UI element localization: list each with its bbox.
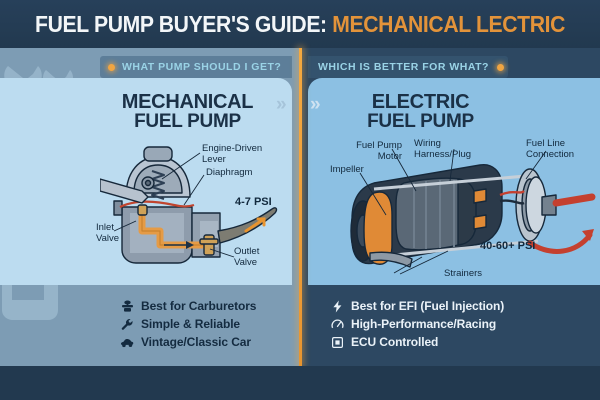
gauge-icon xyxy=(330,317,344,331)
list-item: Best for EFI (Fuel Injection) xyxy=(330,297,504,315)
right-heading-line2: FUEL PUMP xyxy=(333,112,508,132)
bullet-dot-icon xyxy=(108,64,115,71)
list-item: High-Performance/Racing xyxy=(330,315,504,333)
list-item: Best for Carburetors xyxy=(120,297,256,315)
subheader-right: WHICH IS BETTER FOR WHAT? xyxy=(308,56,508,78)
carburetor-icon xyxy=(120,299,134,313)
bullet-dot-icon xyxy=(497,64,504,71)
left-card-extension xyxy=(0,78,100,285)
list-item: Vintage/Classic Car xyxy=(120,333,256,351)
mechanical-pump-diagram: Engine-Driven Lever Diaphragm Inlet Valv… xyxy=(100,135,300,285)
list-item: ECU Controlled xyxy=(330,333,504,351)
label-wiring-harness-plug: Wiring Harness/Plug xyxy=(414,139,471,160)
label-electric-pressure: 40-60+ PSI xyxy=(480,241,535,252)
left-heading-line2: FUEL PUMP xyxy=(100,112,275,132)
footer-bar xyxy=(0,366,600,400)
list-item-label: Best for Carburetors xyxy=(141,299,256,313)
chip-icon xyxy=(330,335,344,349)
title-bar: FUEL PUMP BUYER'S GUIDE: MECHANICAL LECT… xyxy=(0,0,600,48)
chevron-right-icon: » xyxy=(276,94,285,116)
list-item-label: Vintage/Classic Car xyxy=(141,335,251,349)
subheader-right-label: WHICH IS BETTER FOR WHAT? xyxy=(318,61,489,73)
label-impeller: Impeller xyxy=(330,165,364,176)
mechanical-fuel-pump-illustration xyxy=(100,135,300,285)
right-benefits-list: Best for EFI (Fuel Injection) High-Perfo… xyxy=(330,297,504,351)
bolt-icon xyxy=(330,299,344,313)
list-item-label: Simple & Reliable xyxy=(141,317,240,331)
label-outlet-valve: Outlet Valve xyxy=(234,247,259,268)
list-item-label: ECU Controlled xyxy=(351,335,438,349)
chevron-right-icon-secondary: » xyxy=(310,94,319,116)
list-item-label: Best for EFI (Fuel Injection) xyxy=(351,299,504,313)
page-title: FUEL PUMP BUYER'S GUIDE: MECHANICAL LECT… xyxy=(35,11,565,38)
label-fuel-line-connection: Fuel Line Connection xyxy=(526,139,574,160)
subheader-left-label: WHAT PUMP SHOULD I GET? xyxy=(122,61,281,73)
title-accent: MECHANICAL LECTRIC xyxy=(332,11,565,37)
label-engine-driven-lever: Engine-Driven Lever xyxy=(202,144,262,165)
list-item: Simple & Reliable xyxy=(120,315,256,333)
electric-pump-diagram: Fuel Pump Motor Impeller Wiring Harness/… xyxy=(330,135,600,285)
title-main: FUEL PUMP BUYER'S GUIDE: xyxy=(35,11,327,37)
right-heading-line1: ELECTRIC xyxy=(372,91,470,113)
left-heading-line1: MECHANICAL xyxy=(122,91,253,113)
label-inlet-valve: Inlet Valve xyxy=(96,223,119,244)
label-strainers: Strainers xyxy=(444,269,482,280)
label-fuel-pump-motor: Fuel Pump Motor xyxy=(342,141,402,162)
label-mechanical-pressure: 4-7 PSI xyxy=(235,197,272,208)
left-benefits-list: Best for Carburetors Simple & Reliable V… xyxy=(120,297,256,351)
wrench-icon xyxy=(120,317,134,331)
infographic-poster: FUEL PUMP BUYER'S GUIDE: MECHANICAL LECT… xyxy=(0,0,600,400)
classic-car-icon xyxy=(120,335,134,349)
list-item-label: High-Performance/Racing xyxy=(351,317,496,331)
right-heading: ELECTRIC FUEL PUMP xyxy=(333,92,508,132)
label-diaphragm: Diaphragm xyxy=(206,168,252,179)
left-heading: MECHANICAL FUEL PUMP xyxy=(100,92,275,132)
subheader-left: WHAT PUMP SHOULD I GET? xyxy=(100,56,292,78)
